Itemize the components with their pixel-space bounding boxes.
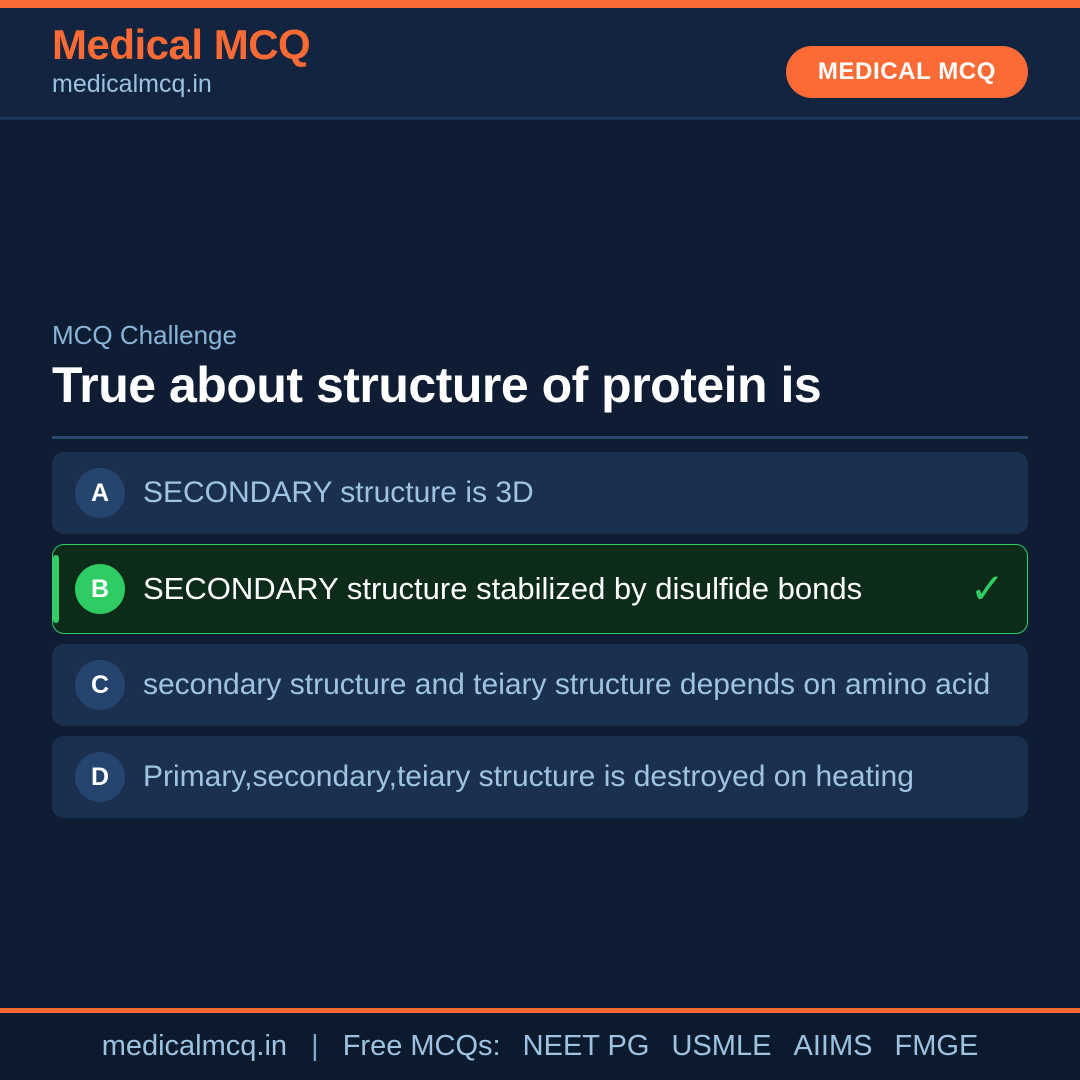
question-divider <box>52 436 1028 439</box>
footer-tag-aiims[interactable]: AIIMS <box>780 1030 873 1062</box>
option-letter-badge: D <box>75 752 125 802</box>
option-letter-badge: C <box>75 660 125 710</box>
question-eyebrow: MCQ Challenge <box>52 320 1028 351</box>
option-d[interactable]: D Primary,secondary,teiary structure is … <box>52 736 1028 818</box>
options-list: A SECONDARY structure is 3D B SECONDARY … <box>52 452 1028 828</box>
brand-title: Medical MCQ <box>52 22 310 67</box>
option-letter-badge: B <box>75 564 125 614</box>
main-content: MCQ Challenge True about structure of pr… <box>0 123 1080 1008</box>
option-a[interactable]: A SECONDARY structure is 3D <box>52 452 1028 534</box>
option-text: secondary structure and teiary structure… <box>143 656 1005 714</box>
option-text: SECONDARY structure stabilized by disulf… <box>143 560 956 619</box>
header-badge[interactable]: MEDICAL MCQ <box>786 46 1028 98</box>
option-c[interactable]: C secondary structure and teiary structu… <box>52 644 1028 726</box>
footer-tag-usmle[interactable]: USMLE <box>658 1030 772 1062</box>
page-footer: medicalmcq.in | Free MCQs: NEET PG USMLE… <box>0 1008 1080 1080</box>
footer-tag-neet-pg[interactable]: NEET PG <box>509 1030 650 1062</box>
brand-block[interactable]: Medical MCQ medicalmcq.in <box>52 22 310 99</box>
option-b[interactable]: B SECONDARY structure stabilized by disu… <box>52 544 1028 634</box>
footer-site[interactable]: medicalmcq.in <box>102 1030 287 1062</box>
page-header: Medical MCQ medicalmcq.in MEDICAL MCQ <box>0 8 1080 120</box>
check-icon: ✓ <box>970 568 1005 610</box>
top-accent-bar <box>0 0 1080 8</box>
option-letter-badge: A <box>75 468 125 518</box>
footer-separator: | <box>295 1030 335 1062</box>
footer-text: medicalmcq.in | Free MCQs: NEET PG USMLE… <box>102 1030 979 1063</box>
brand-subtitle: medicalmcq.in <box>52 69 310 99</box>
footer-prefix: Free MCQs: <box>343 1030 501 1062</box>
option-text: Primary,secondary,teiary structure is de… <box>143 748 1005 806</box>
footer-tag-fmge[interactable]: FMGE <box>881 1030 979 1062</box>
question-title: True about structure of protein is <box>52 357 1028 413</box>
correct-accent-bar <box>53 555 59 623</box>
option-text: SECONDARY structure is 3D <box>143 464 1005 522</box>
question-block: MCQ Challenge True about structure of pr… <box>52 320 1028 439</box>
